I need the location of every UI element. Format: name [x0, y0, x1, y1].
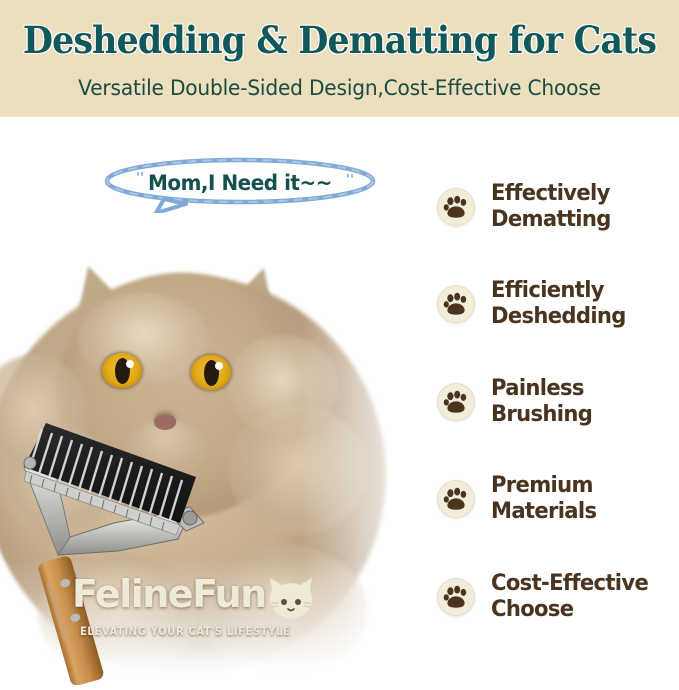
paw-glyph [437, 383, 475, 421]
deshedding-brush-image [18, 405, 233, 685]
paw-icon [437, 285, 475, 323]
cat-eye-glint [126, 360, 134, 368]
paw-icon [437, 578, 475, 616]
feature-label: Effectively Dematting [491, 181, 611, 232]
paw-icon [437, 383, 475, 421]
cat-eye-glint [215, 362, 223, 370]
cat-eye-right [191, 355, 231, 390]
feature-item: Effectively Dematting [437, 168, 679, 246]
feature-label: Cost-Effective Choose [491, 571, 648, 622]
feature-label: Painless Brushing [491, 376, 592, 427]
page-subtitle: Versatile Double-Sided Design,Cost-Effec… [14, 76, 666, 100]
paw-glyph [437, 188, 475, 226]
paw-glyph [437, 578, 475, 616]
paw-icon [437, 188, 475, 226]
fur-highlight [78, 293, 208, 383]
feature-item: Premium Materials [437, 460, 679, 538]
speech-bubble: '' '' Mom,I Need it~~ [100, 157, 380, 213]
brush-end-cap [24, 457, 36, 469]
feature-item: Painless Brushing [437, 363, 679, 441]
feature-item: Cost-Effective Choose [437, 558, 679, 636]
speech-bubble-text: Mom,I Need it~~ [107, 171, 373, 195]
feature-label: Efficiently Deshedding [491, 278, 626, 329]
paw-icon [437, 480, 475, 518]
brand-logo: FelineFun ELEVATING YOUR CAT'S LIFESTYLE [72, 572, 322, 642]
brush-frame [58, 513, 186, 555]
brush-svg [18, 405, 233, 685]
page-title: Deshedding & Dematting for Cats [20, 18, 658, 62]
cat-eye-left [102, 353, 142, 388]
paw-glyph [437, 285, 475, 323]
feature-item: Efficiently Deshedding [437, 265, 679, 343]
paw-glyph [437, 480, 475, 518]
header-band: Deshedding & Dematting for Cats Versatil… [0, 0, 679, 117]
brush-screw [183, 511, 197, 525]
cat-head-icon [264, 574, 318, 626]
feature-list: Effectively Dematting Efficiently Deshed… [437, 168, 679, 638]
brand-name: FelineFun [72, 572, 266, 616]
brand-tagline: ELEVATING YOUR CAT'S LIFESTYLE [80, 626, 290, 638]
feature-label: Premium Materials [491, 473, 596, 524]
